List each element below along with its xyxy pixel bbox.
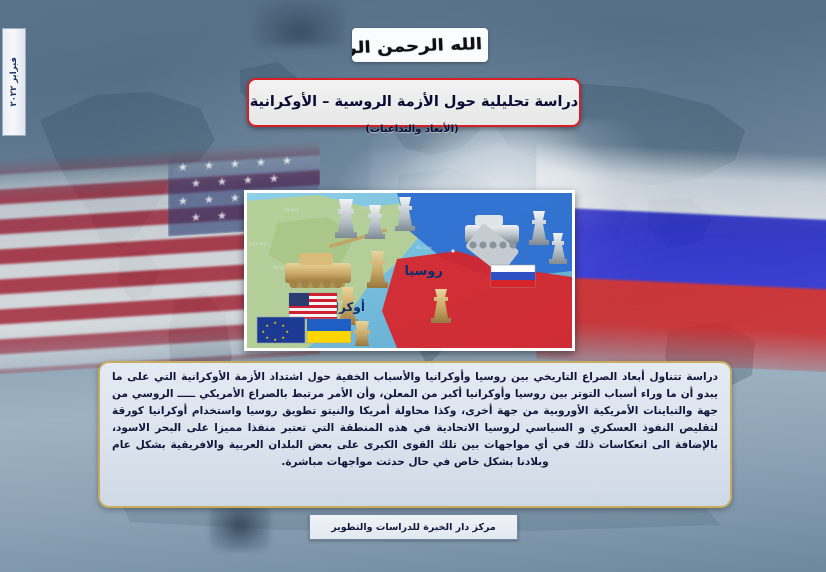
basmala-text: بسم الله الرحمن الرحيم (352, 32, 488, 58)
background-shadow-blob (210, 505, 270, 551)
footer-organization-button[interactable]: مركز دار الخبرة للدراسات والتطوير (309, 514, 518, 540)
svg-text:★: ★ (281, 335, 285, 340)
body-paragraph: دراسة تتناول أبعاد الصراع التاريخي بين ر… (112, 369, 718, 471)
mini-russia-flag (491, 265, 535, 287)
svg-text:Moscow: Moscow (416, 245, 433, 250)
mini-ukraine-flag (307, 319, 351, 343)
svg-text:★: ★ (281, 323, 285, 328)
body-text-box: دراسة تتناول أبعاد الصراع التاريخي بين ر… (98, 361, 732, 508)
svg-text:★: ★ (265, 335, 269, 340)
side-date-label: فبراير ٢٠٢٢ (9, 57, 19, 106)
presentation-slide: ★★ ★★ ★ ★★ ★★ ★★ ★★ ★ ★★ ★★ فبراير ٢٠٢٢ … (0, 0, 826, 572)
side-date-tab: فبراير ٢٠٢٢ (2, 28, 26, 136)
svg-text:Norway: Norway (284, 207, 300, 212)
footer-organization-label: مركز دار الخبرة للدراسات والتطوير (331, 522, 496, 533)
page-subtitle: (الأبعاد والتداعيات) (247, 124, 577, 135)
mini-us-flag (289, 293, 337, 319)
svg-text:★: ★ (273, 337, 277, 342)
svg-text:★: ★ (285, 329, 289, 334)
svg-text:Germany: Germany (249, 241, 268, 246)
page-title: دراسة تحليلية حول الأزمة الروسية – الأوك… (250, 95, 579, 111)
svg-text:★: ★ (273, 320, 277, 325)
svg-text:روسيا: روسيا (404, 264, 443, 279)
illustration-image: NorwayFinland GermanyPoland MoscowRomani… (244, 190, 575, 351)
mini-eu-flag: ★★★ ★★★ ★★ (257, 317, 305, 343)
russia-flag-background (536, 141, 826, 373)
basmala-plaque: بسم الله الرحمن الرحيم (352, 28, 488, 62)
title-box: دراسة تحليلية حول الأزمة الروسية – الأوك… (247, 78, 581, 127)
svg-text:★: ★ (265, 323, 269, 328)
svg-text:★: ★ (261, 329, 265, 334)
background-shadow-blob-top (255, 0, 345, 46)
